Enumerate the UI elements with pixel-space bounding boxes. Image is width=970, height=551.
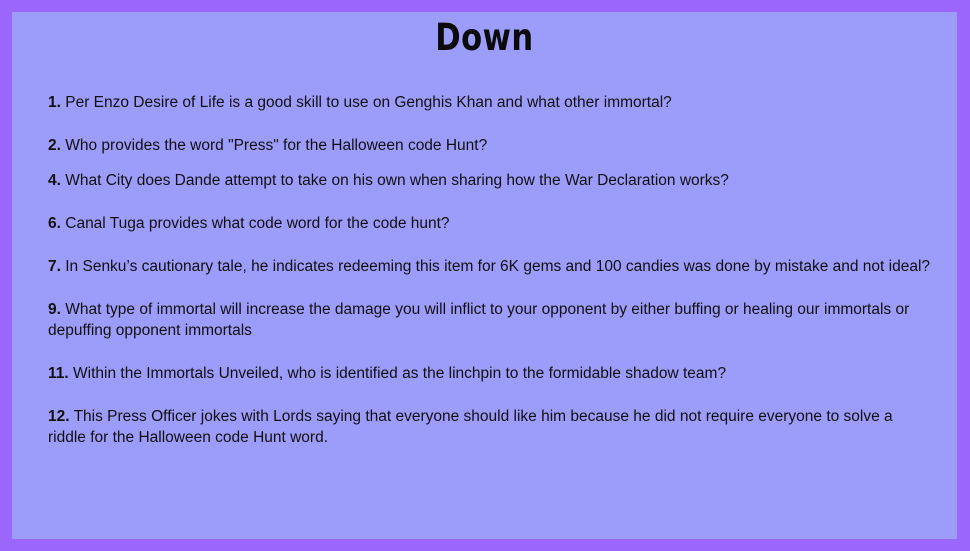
clue-text: Who provides the word "Press" for the Ha… [65, 137, 487, 154]
clue-item: 1. Per Enzo Desire of Life is a good ski… [48, 92, 931, 113]
clue-number: 11. [48, 365, 69, 382]
clue-item: 7. In Senku’s cautionary tale, he indica… [48, 256, 931, 277]
page-title: Down [50, 12, 919, 58]
clue-text: In Senku’s cautionary tale, he indicates… [65, 258, 930, 275]
clue-item: 12. This Press Officer jokes with Lords … [48, 406, 931, 448]
clue-item: 9. What type of immortal will increase t… [48, 299, 931, 341]
down-clue-list: 1. Per Enzo Desire of Life is a good ski… [12, 58, 957, 448]
clue-number: 1. [48, 94, 61, 111]
clue-text: Canal Tuga provides what code word for t… [65, 215, 449, 232]
clue-number: 4. [48, 172, 61, 189]
clue-text: Within the Immortals Unveiled, who is id… [73, 365, 726, 382]
puzzle-panel: Down 1. Per Enzo Desire of Life is a goo… [12, 12, 957, 539]
clue-item: 6. Canal Tuga provides what code word fo… [48, 213, 931, 234]
puzzle-slide-frame: Down 1. Per Enzo Desire of Life is a goo… [0, 0, 970, 551]
clue-text: This Press Officer jokes with Lords sayi… [48, 408, 893, 446]
clue-item: 4. What City does Dande attempt to take … [48, 170, 931, 191]
clue-number: 2. [48, 137, 61, 154]
clue-text: What type of immortal will increase the … [48, 301, 909, 339]
clue-number: 12. [48, 408, 70, 425]
clue-item: 11. Within the Immortals Unveiled, who i… [48, 363, 931, 384]
clue-text: What City does Dande attempt to take on … [65, 172, 729, 189]
clue-number: 9. [48, 301, 61, 318]
clue-item: 2. Who provides the word "Press" for the… [48, 135, 931, 156]
clue-number: 6. [48, 215, 61, 232]
clue-number: 7. [48, 258, 61, 275]
clue-text: Per Enzo Desire of Life is a good skill … [65, 94, 672, 111]
